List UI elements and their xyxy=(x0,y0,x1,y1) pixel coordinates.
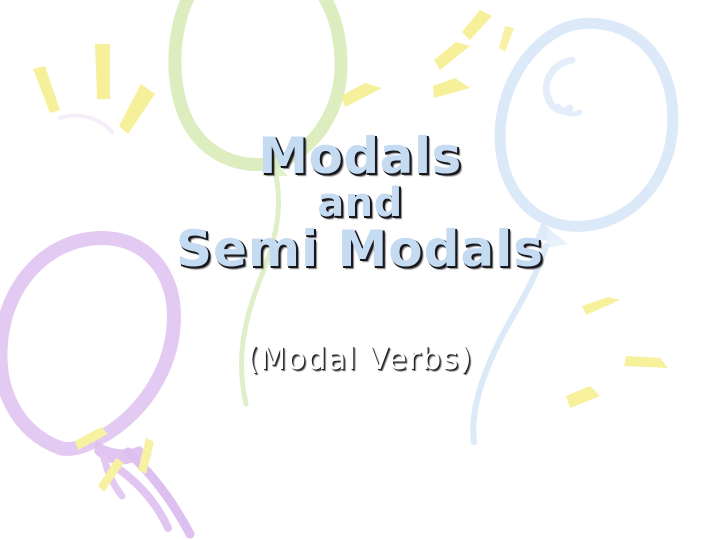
page-title: Modals and Semi Modals xyxy=(0,131,720,275)
title-slide: Modals and Semi Modals (Modal Verbs) xyxy=(0,0,720,540)
slide-content: Modals and Semi Modals (Modal Verbs) xyxy=(0,0,720,540)
subtitle-container: (Modal Verbs) xyxy=(0,342,720,377)
title-line-1: Modals xyxy=(0,131,720,182)
page-subtitle: (Modal Verbs) xyxy=(247,342,473,377)
title-line-3: Semi Modals xyxy=(0,224,720,275)
title-line-2: and xyxy=(0,182,720,224)
